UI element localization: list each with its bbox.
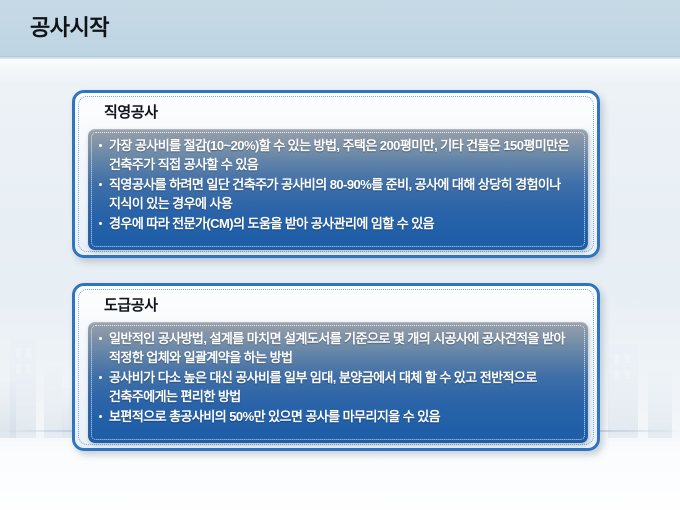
panel-heading: 직영공사 (80, 98, 592, 129)
panel-body: 일반적인 공사방법, 설계를 마치면 설계도서를 기준으로 몇 개의 시공사에 … (88, 322, 588, 443)
list-item: 보편적으로 총공사비의 50%만 있으면 공사를 마무리지을 수 있음 (98, 407, 578, 426)
list-item: 공사비가 다소 높은 대신 공사비를 일부 임대, 분양금에서 대체 할 수 있… (98, 368, 578, 406)
panel-body: 가장 공사비를 절감(10~20%)할 수 있는 방법, 주택은 200평미만,… (88, 129, 588, 250)
bullet-list: 일반적인 공사방법, 설계를 마치면 설계도서를 기준으로 몇 개의 시공사에 … (98, 329, 578, 426)
content-panel-dogeup: 도급공사 일반적인 공사방법, 설계를 마치면 설계도서를 기준으로 몇 개의 … (72, 283, 600, 451)
content-panel-jikyeong: 직영공사 가장 공사비를 절감(10~20%)할 수 있는 방법, 주택은 20… (72, 90, 600, 258)
header-glow (0, 59, 680, 85)
list-item: 경우에 따라 전문가(CM)의 도움을 받아 공사관리에 임할 수 있음 (98, 214, 578, 233)
list-item: 직영공사를 하려면 일단 건축주가 공사비의 80-90%를 준비, 공사에 대… (98, 175, 578, 213)
list-item: 일반적인 공사방법, 설계를 마치면 설계도서를 기준으로 몇 개의 시공사에 … (98, 329, 578, 367)
list-item: 가장 공사비를 절감(10~20%)할 수 있는 방법, 주택은 200평미만,… (98, 136, 578, 174)
presentation-slide: 공사시작 직영공사 가장 공사비를 절감(10~20%)할 수 있는 방법, 주… (0, 0, 680, 510)
page-title: 공사시작 (30, 12, 109, 44)
bullet-list: 가장 공사비를 절감(10~20%)할 수 있는 방법, 주택은 200평미만,… (98, 136, 578, 233)
panel-heading: 도급공사 (80, 291, 592, 322)
